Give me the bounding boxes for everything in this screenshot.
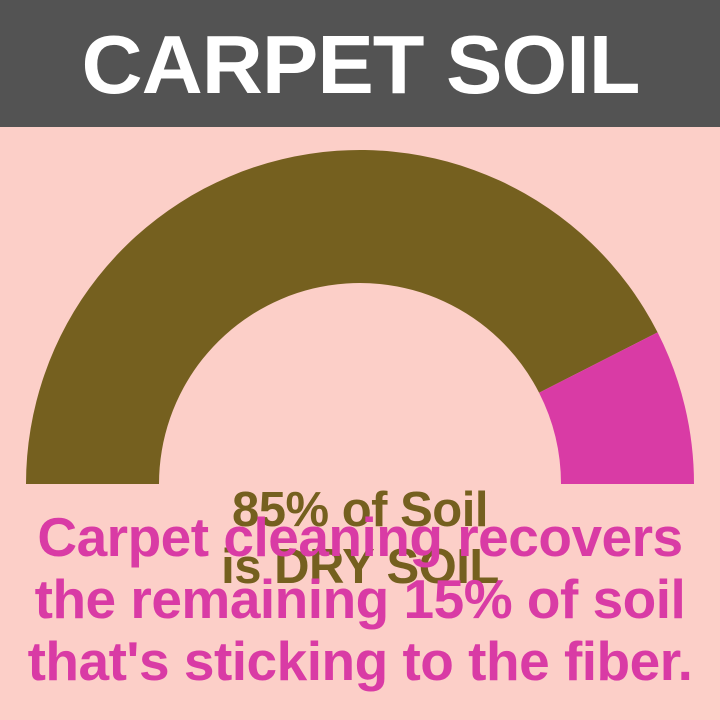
caption-line-2: the remaining 15% of soil xyxy=(0,568,720,630)
caption-line-3: that's sticking to the fiber. xyxy=(0,630,720,692)
gauge-svg xyxy=(0,127,720,487)
caption-line-1: Carpet cleaning recovers xyxy=(0,506,720,568)
page-title: CARPET SOIL xyxy=(81,23,639,106)
header-band: CARPET SOIL xyxy=(0,0,720,127)
gauge-segments xyxy=(26,150,694,484)
caption-text: Carpet cleaning recovers the remaining 1… xyxy=(0,506,720,692)
soil-composition-gauge: 85% of Soil is DRY SOIL xyxy=(0,127,720,487)
carpet-soil-infographic: CARPET SOIL 85% of Soil is DRY SOIL Carp… xyxy=(0,0,720,720)
